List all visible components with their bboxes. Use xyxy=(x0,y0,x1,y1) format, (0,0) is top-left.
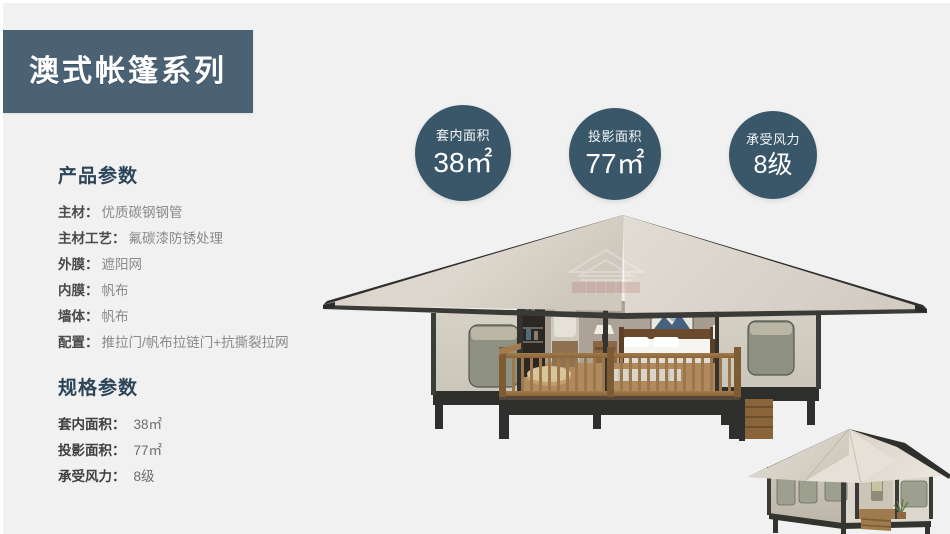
spec-row: 外膜： 遮阳网 xyxy=(58,252,358,278)
spec-params-heading: 规格参数 xyxy=(58,378,358,401)
product-spec-page: 澳式帐篷系列 产品参数 主材： 优质碳钢钢管 主材工艺： 氟碳漆防锈处理 外膜：… xyxy=(0,0,950,534)
spec-value: 推拉门/帆布拉链门+抗撕裂拉网 xyxy=(102,330,289,356)
spec-value: 38㎡ xyxy=(134,412,163,438)
stat-value: 38㎡ xyxy=(433,149,492,177)
spec-column: 产品参数 主材： 优质碳钢钢管 主材工艺： 氟碳漆防锈处理 外膜： 遮阳网 内膜… xyxy=(58,166,358,512)
stat-badge-projected-area: 投影面积 77㎡ xyxy=(569,108,661,200)
spec-row: 承受风力： 8级 xyxy=(58,464,358,490)
tent-deck xyxy=(499,343,773,441)
product-params-heading: 产品参数 xyxy=(58,166,358,189)
spec-row: 套内面积： 38㎡ xyxy=(58,412,358,438)
spec-label: 内膜： xyxy=(58,278,99,304)
spec-params-list: 套内面积： 38㎡ 投影面积： 77㎡ 承受风力： 8级 xyxy=(58,412,358,490)
spec-label: 套内面积： xyxy=(58,412,126,438)
product-params-list: 主材： 优质碳钢钢管 主材工艺： 氟碳漆防锈处理 外膜： 遮阳网 内膜： 帆布 … xyxy=(58,200,358,356)
series-title-text: 澳式帐篷系列 xyxy=(29,57,227,87)
stat-label: 投影面积 xyxy=(588,130,642,143)
spec-row: 主材： 优质碳钢钢管 xyxy=(58,200,358,226)
stat-label: 套内面积 xyxy=(436,129,490,142)
spec-label: 墙体： xyxy=(58,304,99,330)
spec-label: 配置： xyxy=(58,330,99,356)
spec-label: 主材工艺： xyxy=(58,226,126,252)
stat-label: 承受风力 xyxy=(746,133,800,146)
spec-label: 承受风力： xyxy=(58,464,126,490)
spec-value: 优质碳钢钢管 xyxy=(102,200,183,226)
spec-value: 帆布 xyxy=(102,304,129,330)
spec-value: 帆布 xyxy=(102,278,129,304)
spec-value: 遮阳网 xyxy=(102,252,143,278)
stat-badge-wind-resistance: 承受风力 8级 xyxy=(729,111,817,199)
spec-row: 配置： 推拉门/帆布拉链门+抗撕裂拉网 xyxy=(58,330,358,356)
tent-thumbnail-illustration xyxy=(745,421,950,534)
series-title-banner: 澳式帐篷系列 xyxy=(3,30,253,113)
spec-value: 77㎡ xyxy=(134,438,163,464)
spec-row: 投影面积： 77㎡ xyxy=(58,438,358,464)
spec-label: 主材： xyxy=(58,200,99,226)
spec-label: 外膜： xyxy=(58,252,99,278)
spec-value: 氟碳漆防锈处理 xyxy=(129,226,224,252)
stat-value: 8级 xyxy=(754,153,793,178)
spec-value: 8级 xyxy=(134,464,155,490)
spec-label: 投影面积： xyxy=(58,438,126,464)
stat-value: 77㎡ xyxy=(585,150,644,178)
tent-roof xyxy=(323,215,927,319)
spec-row: 内膜： 帆布 xyxy=(58,278,358,304)
spec-row: 主材工艺： 氟碳漆防锈处理 xyxy=(58,226,358,252)
stat-badge-interior-area: 套内面积 38㎡ xyxy=(415,105,511,201)
spec-row: 墙体： 帆布 xyxy=(58,304,358,330)
